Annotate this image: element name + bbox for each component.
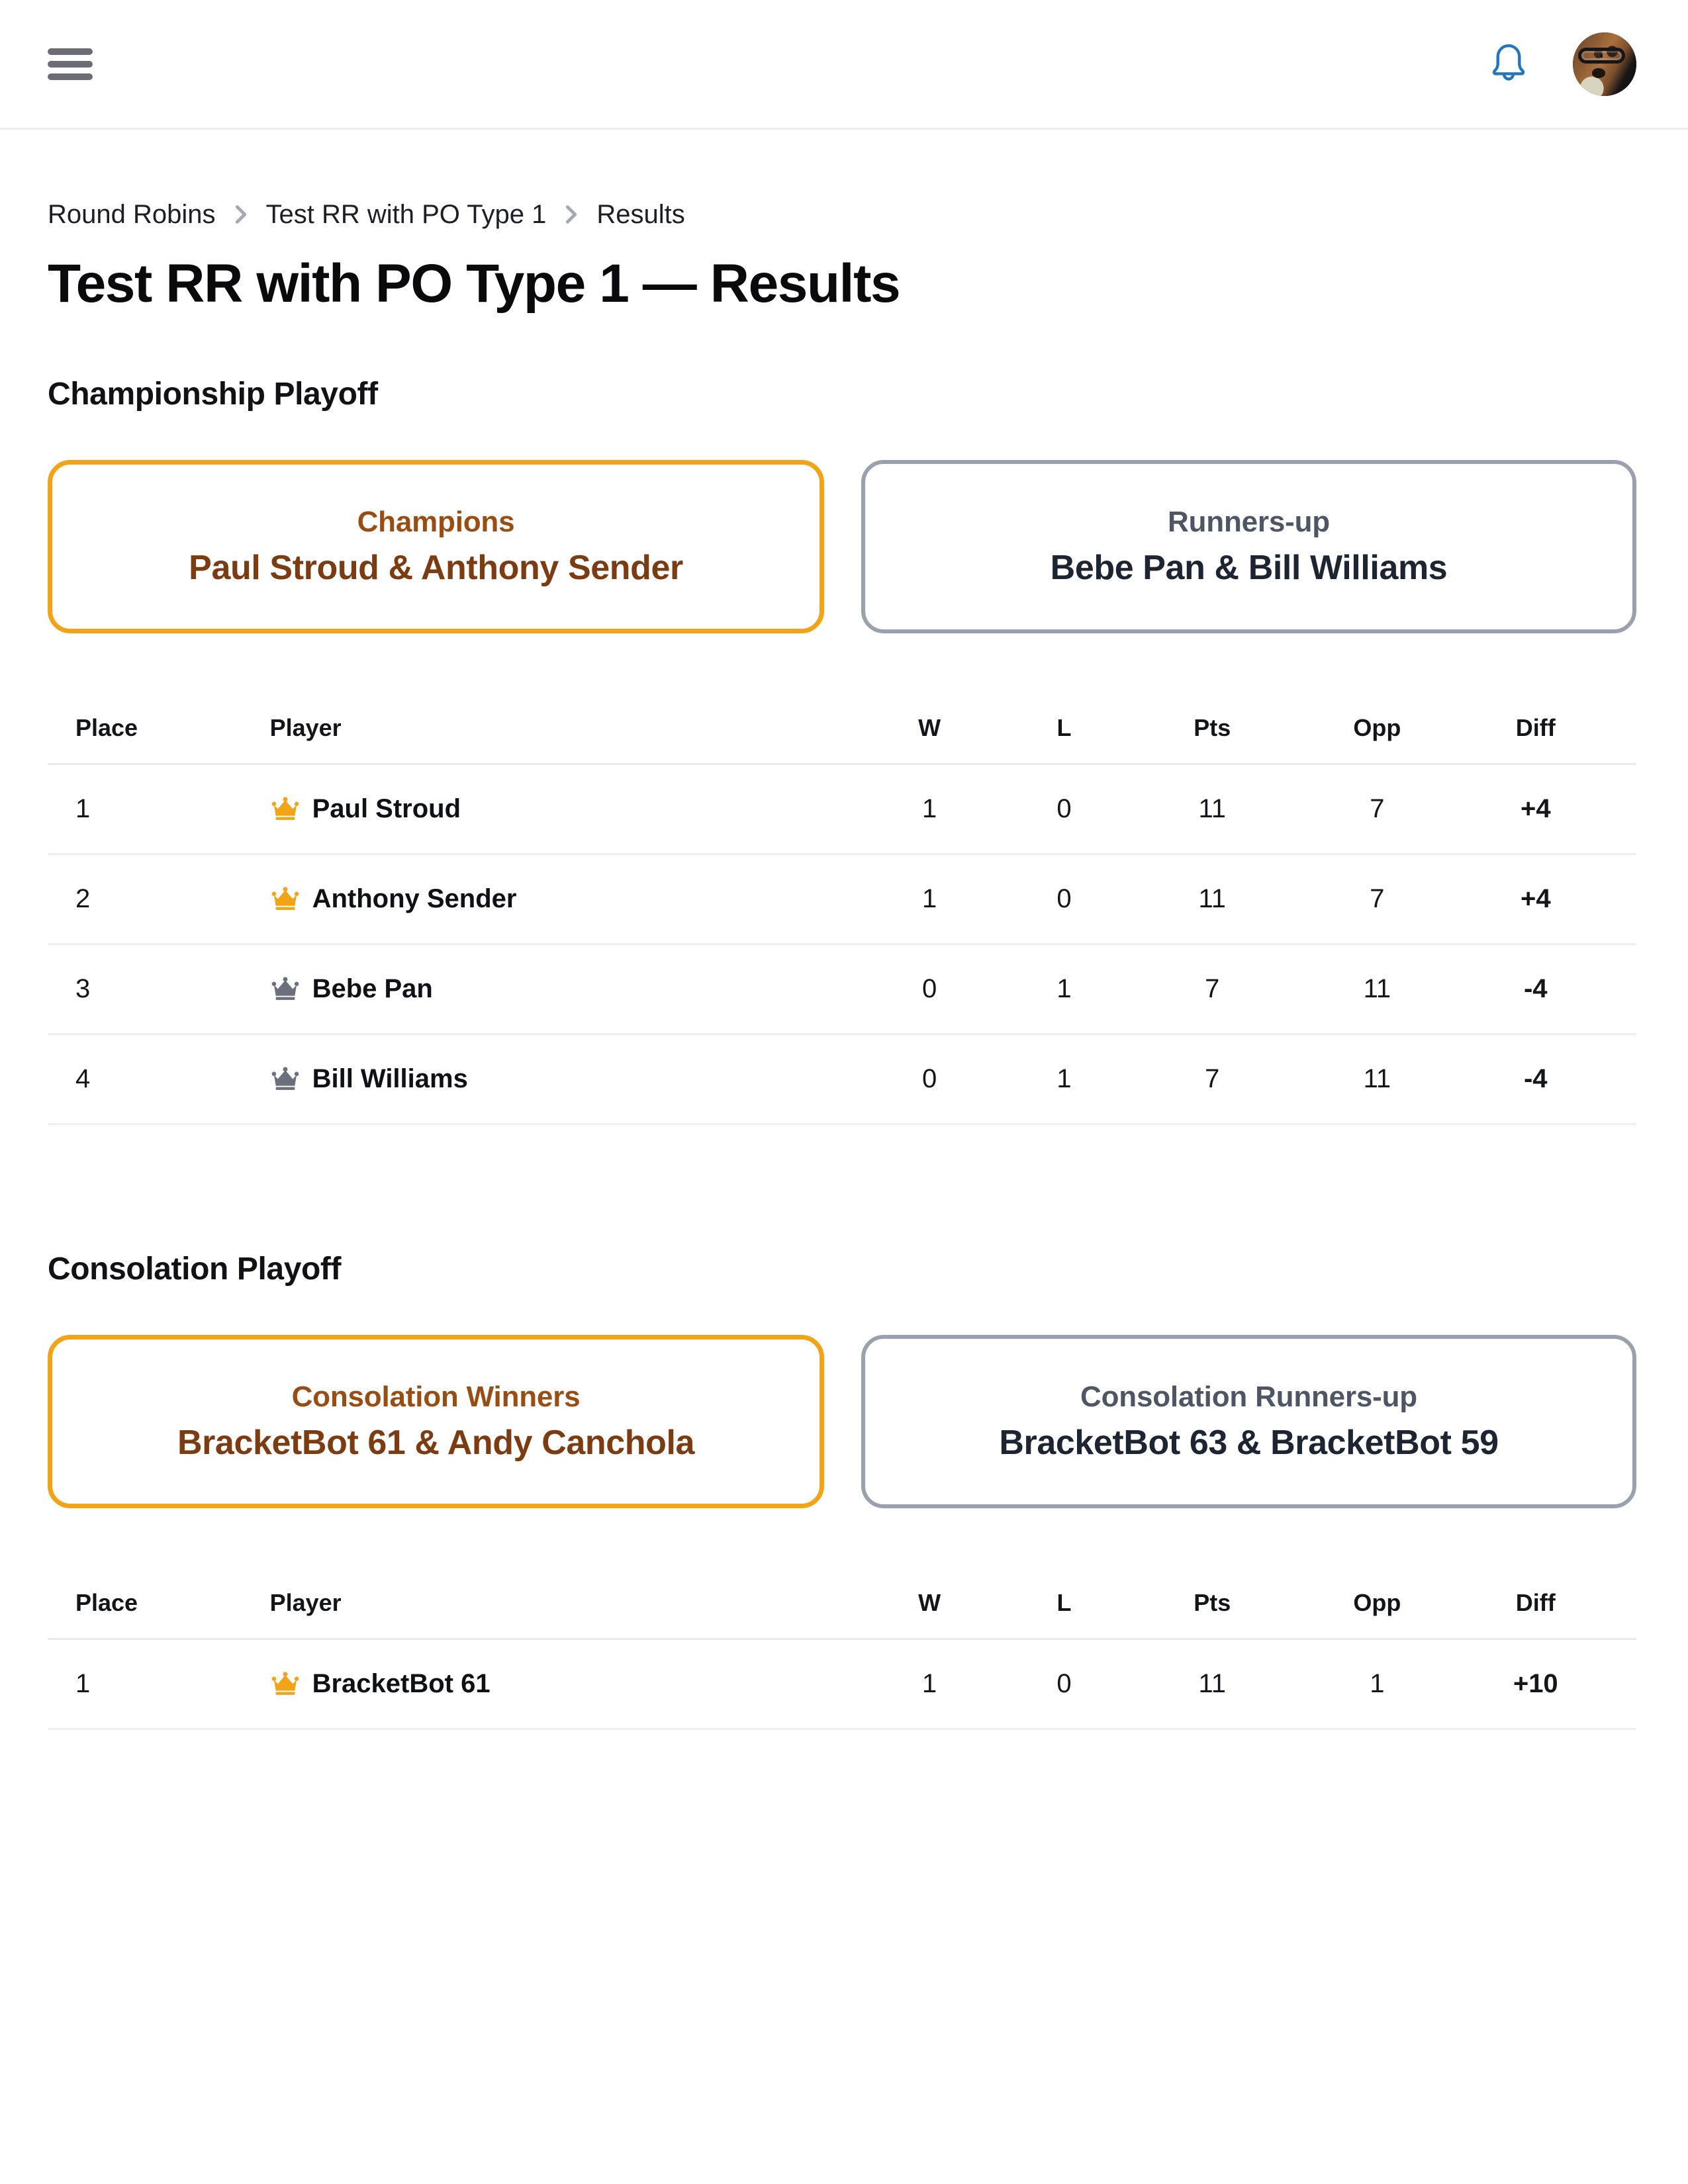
hamburger-bar-2: [48, 61, 93, 68]
column-header-diff: Diff: [1462, 1572, 1636, 1639]
table-row[interactable]: 1 Paul Stroud 1 0 11 7 +4: [48, 764, 1636, 854]
cell-player: Bill Williams: [270, 1034, 863, 1124]
player-name: Anthony Sender: [312, 884, 517, 914]
player-name: Bill Williams: [312, 1064, 468, 1094]
crown-icon: [270, 1671, 301, 1698]
cell-player: Paul Stroud: [270, 764, 863, 854]
cell-place: 1: [48, 1639, 270, 1729]
crown-icon: [270, 886, 301, 913]
column-header-opp: Opp: [1293, 1572, 1461, 1639]
cell-diff: -4: [1462, 1034, 1636, 1124]
hamburger-bar-1: [48, 48, 93, 55]
consolation-table-body: 1 BracketBot 61 1 0 11 1 +10: [48, 1639, 1636, 1729]
consolation-winners-label: Consolation Winners: [292, 1381, 581, 1414]
cell-wins: 0: [862, 944, 996, 1034]
table-head: Place Player W L Pts Opp Diff: [48, 1572, 1636, 1639]
crown-icon: [270, 796, 301, 823]
column-header-l: L: [997, 1572, 1131, 1639]
cell-losses: 0: [997, 854, 1131, 944]
breadcrumb: Round Robins Test RR with PO Type 1 Resu…: [48, 201, 1636, 228]
consolation-runners-up-label: Consolation Runners-up: [1080, 1381, 1417, 1414]
championship-winner-cards: Champions Paul Stroud & Anthony Sender R…: [48, 460, 1636, 633]
hamburger-bar-3: [48, 73, 93, 80]
cell-losses: 1: [997, 1034, 1131, 1124]
spacer: [48, 1125, 1636, 1251]
championship-standings-table: Place Player W L Pts Opp Diff 1: [48, 697, 1636, 1125]
player-name-wrapper: Bebe Pan: [270, 974, 863, 1004]
crown-icon: [270, 1066, 301, 1093]
column-header-diff: Diff: [1462, 697, 1636, 764]
spacer: [48, 1508, 1636, 1572]
cell-place: 4: [48, 1034, 270, 1124]
cell-diff: -4: [1462, 944, 1636, 1034]
cell-diff: +10: [1462, 1639, 1636, 1729]
cell-opp: 11: [1293, 1034, 1461, 1124]
consolation-runners-up-card: Consolation Runners-up BracketBot 63 & B…: [861, 1335, 1636, 1508]
runners-up-names: Bebe Pan & Bill Williams: [1051, 548, 1448, 588]
cell-opp: 1: [1293, 1639, 1461, 1729]
bell-icon[interactable]: [1488, 42, 1529, 87]
avatar-snout: [1592, 68, 1605, 77]
section-heading-championship: Championship Playoff: [48, 376, 1636, 412]
runners-up-card: Runners-up Bebe Pan & Bill Williams: [861, 460, 1636, 633]
cell-points: 11: [1131, 854, 1293, 944]
column-header-place: Place: [48, 697, 270, 764]
avatar-photo: [1573, 32, 1636, 96]
cell-diff: +4: [1462, 854, 1636, 944]
column-header-w: W: [862, 697, 996, 764]
cell-losses: 1: [997, 944, 1131, 1034]
column-header-place: Place: [48, 1572, 270, 1639]
player-name-wrapper: Paul Stroud: [270, 794, 863, 824]
breadcrumb-item-tournament[interactable]: Test RR with PO Type 1: [266, 201, 547, 228]
spacer: [48, 1287, 1636, 1335]
championship-table-body: 1 Paul Stroud 1 0 11 7 +4: [48, 764, 1636, 1124]
user-avatar[interactable]: [1573, 32, 1636, 96]
page-content: Round Robins Test RR with PO Type 1 Resu…: [0, 201, 1688, 1730]
top-bar-actions: [1488, 32, 1636, 96]
cell-opp: 7: [1293, 764, 1461, 854]
player-name-wrapper: Bill Williams: [270, 1064, 863, 1094]
cell-opp: 7: [1293, 854, 1461, 944]
cell-wins: 1: [862, 854, 996, 944]
player-name-wrapper: Anthony Sender: [270, 884, 863, 914]
column-header-pts: Pts: [1131, 697, 1293, 764]
table-row[interactable]: 4 Bill Williams 0 1 7 11 -4: [48, 1034, 1636, 1124]
column-header-player: Player: [270, 697, 863, 764]
table-row[interactable]: 3 Bebe Pan 0 1 7 11 -4: [48, 944, 1636, 1034]
cell-losses: 0: [997, 1639, 1131, 1729]
table-head: Place Player W L Pts Opp Diff: [48, 697, 1636, 764]
champions-label: Champions: [357, 506, 515, 539]
cell-player: BracketBot 61: [270, 1639, 863, 1729]
cell-place: 1: [48, 764, 270, 854]
consolation-winner-cards: Consolation Winners BracketBot 61 & Andy…: [48, 1335, 1636, 1508]
column-header-w: W: [862, 1572, 996, 1639]
cell-opp: 11: [1293, 944, 1461, 1034]
player-name: Paul Stroud: [312, 794, 461, 824]
chevron-right-icon: [563, 203, 579, 226]
table-row[interactable]: 1 BracketBot 61 1 0 11 1 +10: [48, 1639, 1636, 1729]
hamburger-menu-icon[interactable]: [48, 46, 93, 83]
breadcrumb-item-round-robins[interactable]: Round Robins: [48, 201, 216, 228]
consolation-standings-table: Place Player W L Pts Opp Diff 1: [48, 1572, 1636, 1730]
cell-place: 3: [48, 944, 270, 1034]
consolation-runners-up-names: BracketBot 63 & BracketBot 59: [999, 1423, 1498, 1463]
column-header-l: L: [997, 697, 1131, 764]
cell-points: 7: [1131, 1034, 1293, 1124]
column-header-pts: Pts: [1131, 1572, 1293, 1639]
top-bar: [0, 0, 1688, 130]
cell-losses: 0: [997, 764, 1131, 854]
cell-wins: 1: [862, 1639, 996, 1729]
champions-names: Paul Stroud & Anthony Sender: [189, 548, 683, 588]
player-name: BracketBot 61: [312, 1669, 491, 1699]
spacer: [48, 633, 1636, 697]
spacer: [48, 312, 1636, 376]
page-title: Test RR with PO Type 1 — Results: [48, 255, 1636, 312]
consolation-winners-names: BracketBot 61 & Andy Canchola: [177, 1423, 694, 1463]
cell-diff: +4: [1462, 764, 1636, 854]
spacer: [48, 412, 1636, 460]
cell-player: Anthony Sender: [270, 854, 863, 944]
crown-icon: [270, 976, 301, 1003]
column-header-opp: Opp: [1293, 697, 1461, 764]
cell-points: 7: [1131, 944, 1293, 1034]
champions-card: Champions Paul Stroud & Anthony Sender: [48, 460, 824, 633]
column-header-player: Player: [270, 1572, 863, 1639]
player-name: Bebe Pan: [312, 974, 433, 1004]
cell-wins: 0: [862, 1034, 996, 1124]
table-header-row: Place Player W L Pts Opp Diff: [48, 697, 1636, 764]
avatar-glasses: [1578, 48, 1625, 64]
breadcrumb-item-results[interactable]: Results: [596, 201, 684, 228]
player-name-wrapper: BracketBot 61: [270, 1669, 863, 1699]
consolation-winners-card: Consolation Winners BracketBot 61 & Andy…: [48, 1335, 824, 1508]
chevron-right-icon: [233, 203, 249, 226]
table-header-row: Place Player W L Pts Opp Diff: [48, 1572, 1636, 1639]
runners-up-label: Runners-up: [1168, 506, 1330, 539]
cell-player: Bebe Pan: [270, 944, 863, 1034]
cell-points: 11: [1131, 1639, 1293, 1729]
table-row[interactable]: 2 Anthony Sender 1 0 11 7 +4: [48, 854, 1636, 944]
section-heading-consolation: Consolation Playoff: [48, 1251, 1636, 1287]
cell-points: 11: [1131, 764, 1293, 854]
cell-wins: 1: [862, 764, 996, 854]
cell-place: 2: [48, 854, 270, 944]
